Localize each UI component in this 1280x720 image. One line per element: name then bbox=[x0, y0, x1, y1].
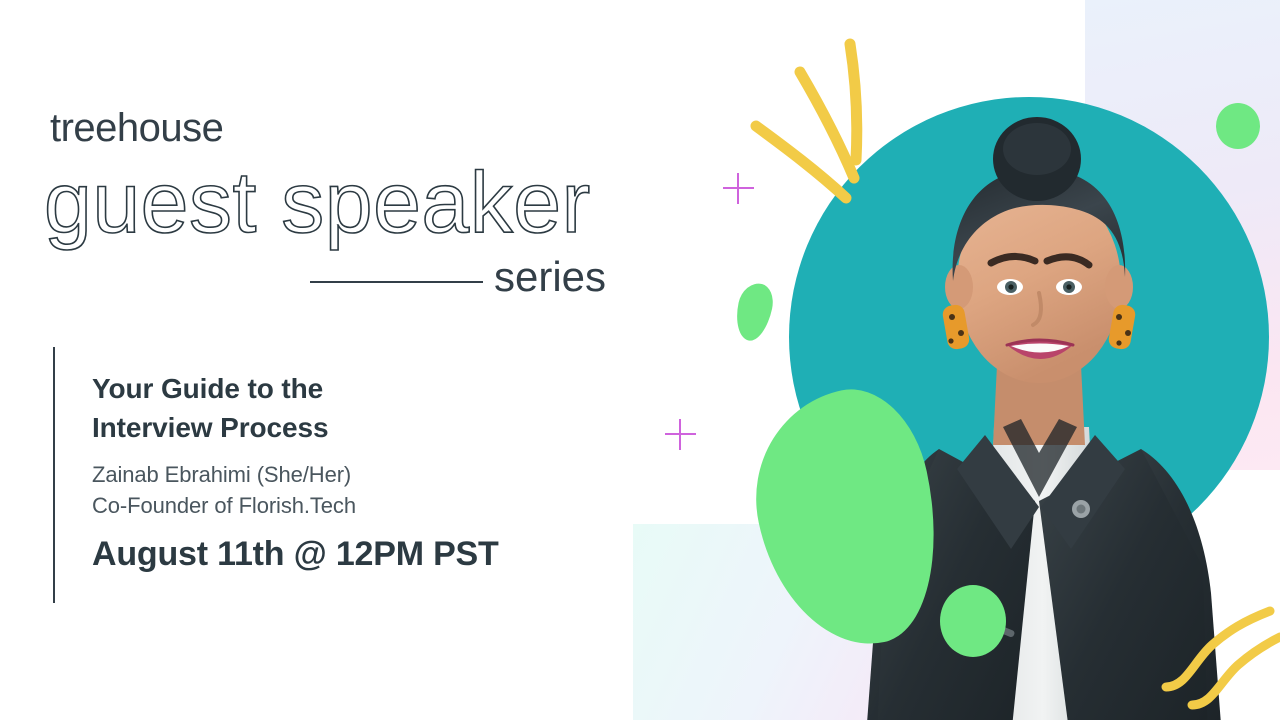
series-divider-rule bbox=[310, 281, 483, 283]
session-title-line-1: Your Guide to the bbox=[92, 370, 632, 409]
plus-mark-icon bbox=[723, 173, 754, 204]
session-details: Your Guide to the Interview Process Zain… bbox=[92, 370, 632, 573]
speaker-portrait-photo bbox=[789, 97, 1269, 720]
brand-wordmark: treehouse bbox=[50, 108, 223, 148]
gradient-panel-top bbox=[1085, 0, 1280, 470]
series-subtitle: series bbox=[494, 256, 606, 298]
green-dot-shape bbox=[1216, 103, 1260, 149]
green-blob-shape bbox=[735, 377, 959, 663]
speaker-name: Zainab Ebrahimi (She/Her) bbox=[92, 459, 632, 490]
promo-slide: treehouse guest speaker series Your Guid… bbox=[0, 0, 1280, 720]
event-datetime: August 11th @ 12PM PST bbox=[92, 536, 632, 573]
yellow-wave-strokes-icon bbox=[1160, 595, 1280, 715]
content-column: treehouse guest speaker series Your Guid… bbox=[0, 0, 660, 720]
plus-mark-icon bbox=[665, 419, 696, 450]
session-title-line-2: Interview Process bbox=[92, 409, 632, 448]
green-bean-shape bbox=[731, 280, 776, 344]
yellow-ray-strokes-icon bbox=[738, 30, 898, 225]
green-circle-shape bbox=[940, 585, 1006, 657]
accent-vertical-rule bbox=[53, 347, 55, 603]
teal-circle-shape bbox=[789, 97, 1269, 577]
page-title: guest speaker bbox=[44, 160, 591, 246]
speaker-role: Co-Founder of Florish.Tech bbox=[92, 490, 632, 521]
gradient-panel-bottom bbox=[633, 524, 1067, 720]
